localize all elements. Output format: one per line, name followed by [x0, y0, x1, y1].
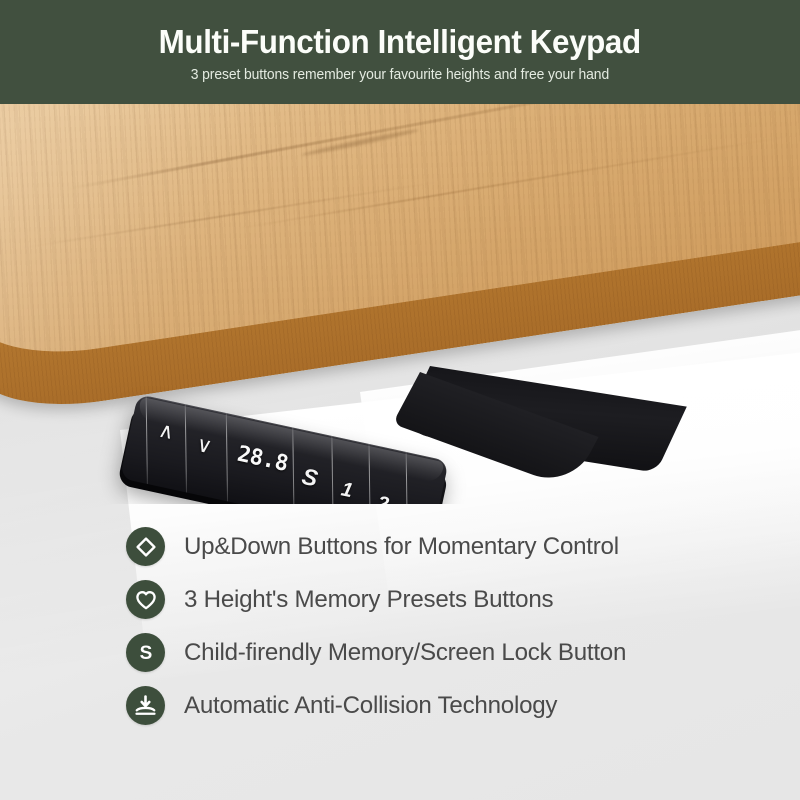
svg-text:S: S: [139, 643, 152, 664]
heart-icon: [126, 580, 165, 619]
keypad-divider: [226, 408, 229, 504]
keypad-up-button[interactable]: ∧: [157, 419, 176, 443]
keypad-divider: [185, 399, 188, 499]
keypad-assembly: ∧ ∨ 28.8 S 1 2 3: [138, 394, 468, 504]
keypad-down-button[interactable]: ∨: [195, 434, 214, 458]
keypad-preset-1-button[interactable]: 1: [339, 478, 355, 503]
header-banner: Multi-Function Intelligent Keypad 3 pres…: [0, 0, 800, 104]
feature-item-child-lock: S Child-firendly Memory/Screen Lock Butt…: [126, 626, 766, 679]
feature-label: Up&Down Buttons for Momentary Control: [184, 533, 619, 561]
keypad-gloss: [137, 397, 445, 484]
keypad-divider: [146, 394, 149, 491]
letter-s-icon: S: [126, 633, 165, 672]
keypad-lock-button[interactable]: S: [300, 463, 321, 493]
feature-item-memory-presets: 3 Height's Memory Presets Buttons: [126, 573, 766, 626]
diamond-icon: [126, 527, 165, 566]
product-feature-image: ∧ ∨ 28.8 S 1 2 3 Up&Down Buttons for: [0, 0, 800, 800]
page-title: Multi-Function Intelligent Keypad: [159, 25, 641, 60]
feature-label: Child-firendly Memory/Screen Lock Button: [184, 639, 626, 667]
keypad-housing: ∧ ∨ 28.8 S 1 2 3: [120, 394, 449, 504]
keypad-divider: [292, 423, 295, 504]
feature-label: Automatic Anti-Collision Technology: [184, 692, 557, 720]
feature-item-momentary-control: Up&Down Buttons for Momentary Control: [126, 520, 766, 573]
anti-collision-icon: [126, 686, 165, 725]
keypad-face: ∧ ∨ 28.8 S 1 2 3: [120, 394, 449, 504]
keypad-preset-2-button[interactable]: 2: [375, 492, 391, 504]
page-subtitle: 3 preset buttons remember your favourite…: [191, 67, 609, 83]
keypad-divider: [331, 431, 334, 504]
feature-label: 3 Height's Memory Presets Buttons: [184, 586, 553, 614]
feature-list: Up&Down Buttons for Momentary Control 3 …: [126, 520, 766, 732]
keypad-height-display: 28.8: [235, 442, 290, 477]
keypad-divider: [406, 447, 409, 504]
product-photo: ∧ ∨ 28.8 S 1 2 3: [0, 104, 800, 504]
feature-item-anti-collision: Automatic Anti-Collision Technology: [126, 679, 766, 732]
keypad-divider: [368, 439, 371, 504]
